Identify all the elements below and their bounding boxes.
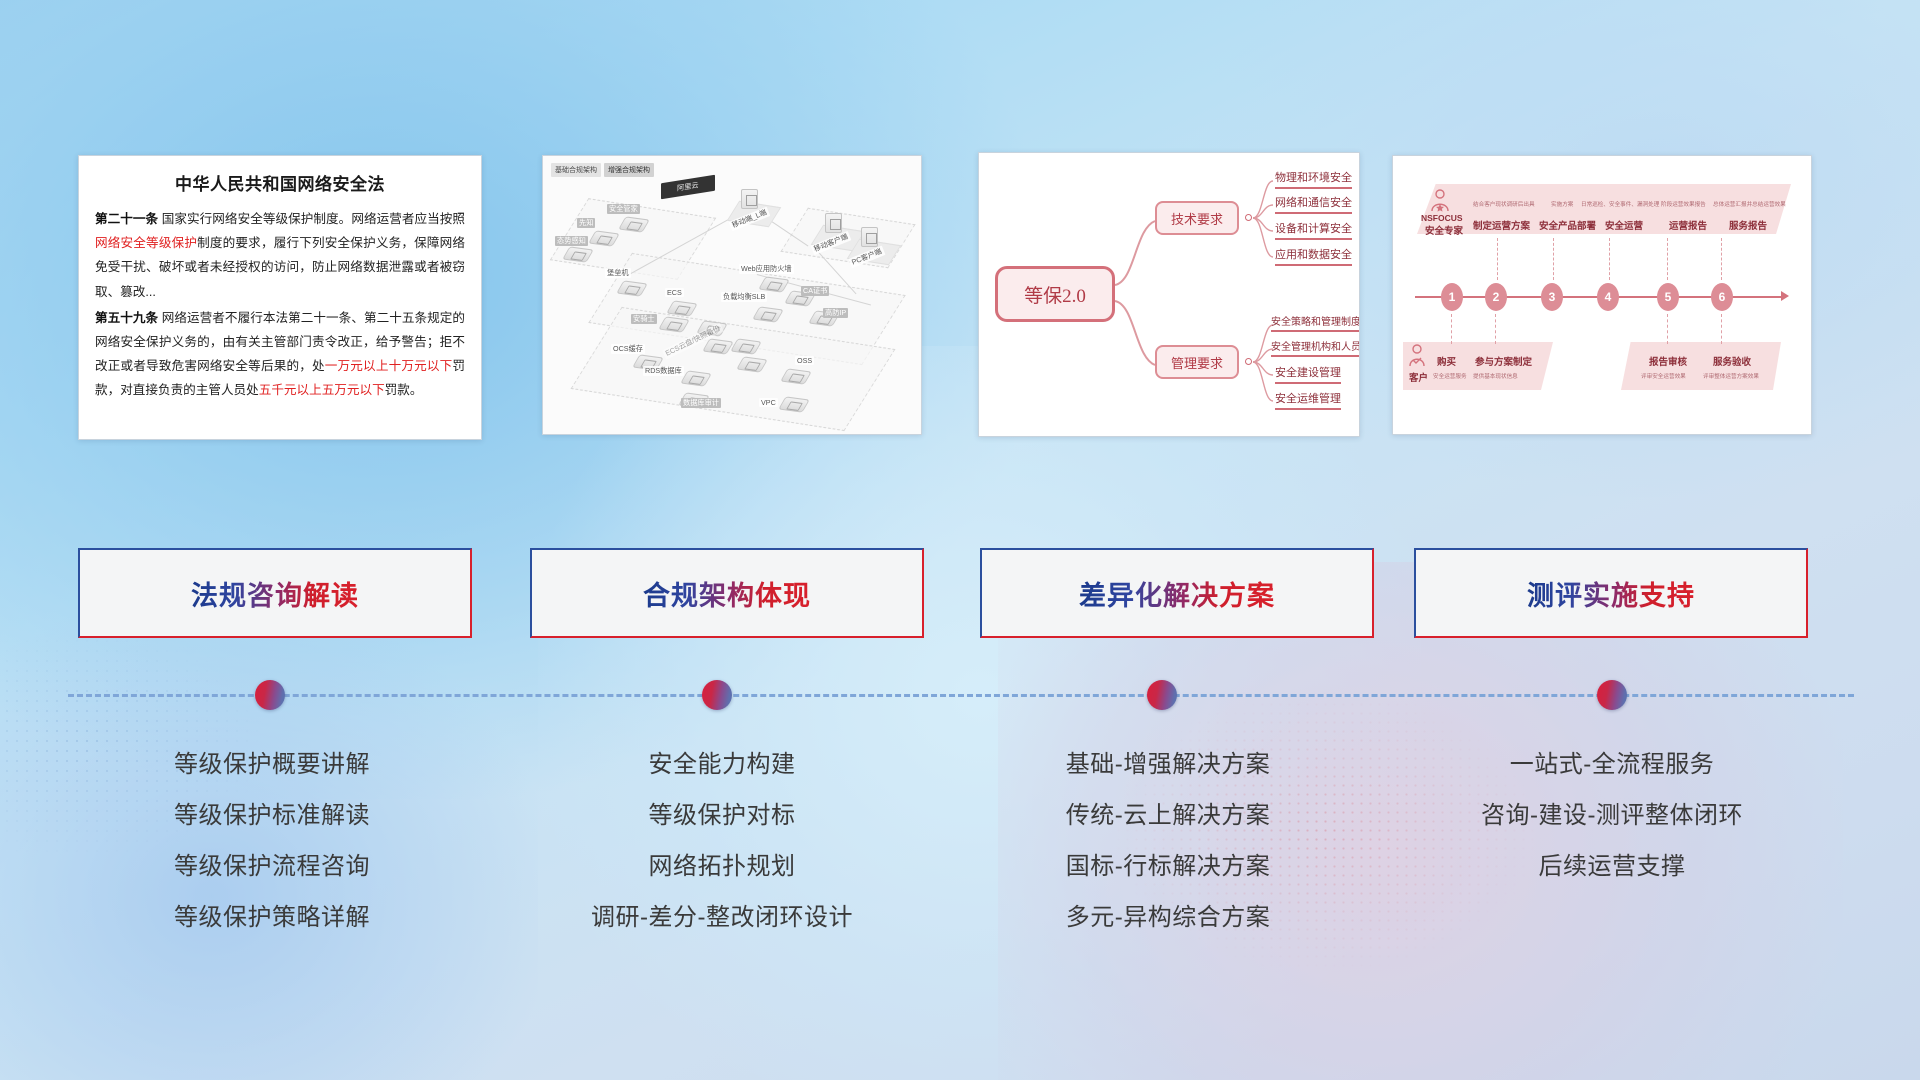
- architecture-node: [733, 336, 759, 353]
- expert-person-icon: [1429, 189, 1451, 213]
- timeline-step-note: 安全运营服务: [1433, 372, 1467, 380]
- timeline-leader-line: [1721, 238, 1722, 280]
- architecture-label-waf: Web应用防火墙: [739, 264, 794, 274]
- section-header-label: 法规咨询解读: [191, 574, 359, 613]
- feature-list-differentiated-solution: 基础-增强解决方案 传统-云上解决方案 国标-行标解决方案 多元-异构综合方案: [968, 740, 1368, 944]
- feature-list-item: 国标-行标解决方案: [968, 842, 1368, 893]
- timeline-marker-dot[interactable]: [255, 680, 285, 710]
- mindmap-branch-technical[interactable]: 技术要求: [1155, 201, 1239, 235]
- architecture-node: [565, 244, 591, 261]
- architecture-label-prophet: 先知: [577, 218, 595, 228]
- mindmap-leaf[interactable]: 安全运维管理: [1275, 390, 1341, 410]
- law-paragraph: 第二十一条 国家实行网络安全等级保护制度。网络运营者应当按照网络安全等级保护制度…: [95, 207, 465, 304]
- timeline-dashed-line: [68, 694, 1854, 697]
- timeline-step-note: 日常巡检、安全事件、漏洞处理: [1581, 200, 1659, 208]
- timeline-axis-arrow-icon: [1781, 291, 1789, 301]
- architecture-tabs[interactable]: 基础合规架构 增强合规架构: [551, 163, 654, 177]
- section-header-assessment-support[interactable]: 测评实施支持: [1414, 548, 1808, 638]
- timeline-leader-line: [1497, 238, 1498, 280]
- timeline-leader-line: [1667, 238, 1668, 280]
- feature-list-regulation-consulting: 等级保护概要讲解 等级保护标准解读 等级保护流程咨询 等级保护策略详解: [72, 740, 472, 944]
- architecture-client-pc: [861, 227, 878, 247]
- law-paragraph: 第五十九条 网络运营者不履行本法第二十一条、第二十五条规定的网络安全保护义务的，…: [95, 306, 465, 403]
- mindmap-leaf[interactable]: 设备和计算安全: [1275, 220, 1352, 240]
- timeline-step-title[interactable]: 安全产品部署: [1539, 218, 1596, 232]
- architecture-label-agent: 安骑士: [631, 314, 657, 324]
- feature-list-item: 后续运营支撑: [1412, 842, 1812, 893]
- law-text-run: 国家实行网络安全等级保护制度。网络运营者应当按照: [158, 212, 465, 226]
- feature-list-compliance-architecture: 安全能力构建 等级保护对标 网络拓扑规划 调研-差分-整改闭环设计: [522, 740, 922, 944]
- timeline-step-note: 评审安全运营效果: [1641, 372, 1686, 380]
- mindmap-diagram: 等保2.0 技术要求 管理要求 物理和环境安全 网络和通信安全 设备和计算安全 …: [979, 153, 1359, 436]
- architecture-node: [669, 298, 695, 315]
- slide-stage: 中华人民共和国网络安全法 第二十一条 国家实行网络安全等级保护制度。网络运营者应…: [0, 0, 1920, 1080]
- mindmap-leaf[interactable]: 安全策略和管理制度: [1271, 313, 1360, 332]
- timeline-step-title[interactable]: 服务验收: [1713, 354, 1751, 368]
- timeline-step-note: 结合客户现状调研后出具: [1473, 200, 1535, 208]
- timeline-node[interactable]: 6: [1711, 283, 1733, 311]
- section-header-label: 合规架构体现: [643, 574, 811, 613]
- mindmap-leaf[interactable]: 安全建设管理: [1275, 364, 1341, 384]
- timeline-marker-dot[interactable]: [1147, 680, 1177, 710]
- feature-list-item: 基础-增强解决方案: [968, 740, 1368, 791]
- architecture-label-vpc: VPC: [759, 398, 778, 407]
- timeline-leader-line: [1553, 238, 1554, 280]
- timeline-step-title[interactable]: 服务报告: [1729, 218, 1767, 232]
- card-cloud-architecture[interactable]: 基础合规架构 增强合规架构 阿里云 态势感知 先知 安全管家 堡垒机: [542, 155, 922, 435]
- law-article-label: 第二十一条: [95, 212, 158, 226]
- architecture-label-oss: OSS: [795, 356, 814, 365]
- architecture-node: [591, 228, 617, 245]
- timeline-step-title[interactable]: 报告审核: [1649, 354, 1687, 368]
- architecture-node: [621, 214, 647, 231]
- architecture-label-db-audit: 数据库审计: [681, 398, 721, 408]
- card-service-timeline[interactable]: NSFOCUS 安全专家 结合客户现状调研后出具 制定运营方案 实施方案 安全产…: [1392, 155, 1812, 435]
- feature-list-item: 网络拓扑规划: [522, 842, 922, 893]
- timeline-leader-line: [1609, 238, 1610, 280]
- architecture-node: [781, 394, 807, 411]
- timeline-node[interactable]: 5: [1657, 283, 1679, 311]
- feature-list-assessment-support: 一站式-全流程服务 咨询-建设-测评整体闭环 后续运营支撑: [1412, 740, 1812, 893]
- feature-list-item: 等级保护对标: [522, 791, 922, 842]
- mindmap-leaf[interactable]: 网络和通信安全: [1275, 194, 1352, 214]
- timeline-step-title[interactable]: 参与方案制定: [1475, 354, 1532, 368]
- architecture-tab-basic[interactable]: 基础合规架构: [551, 163, 601, 177]
- feature-list-item: 一站式-全流程服务: [1412, 740, 1812, 791]
- service-timeline-diagram: NSFOCUS 安全专家 结合客户现状调研后出具 制定运营方案 实施方案 安全产…: [1393, 156, 1811, 434]
- architecture-label-security-butler: 安全管家: [607, 204, 640, 214]
- timeline-step-note: 提供基本现状信息: [1473, 372, 1518, 380]
- law-title: 中华人民共和国网络安全法: [95, 170, 465, 195]
- architecture-node: [783, 366, 809, 383]
- architecture-label-anti-ddos-ip: 高防IP: [823, 308, 848, 318]
- architecture-node: [739, 354, 765, 371]
- section-header-label: 差异化解决方案: [1079, 574, 1275, 613]
- timeline-step-note: 阶段运营效果报告: [1661, 200, 1706, 208]
- architecture-node: [661, 314, 687, 331]
- card-mindmap[interactable]: 等保2.0 技术要求 管理要求 物理和环境安全 网络和通信安全 设备和计算安全 …: [978, 152, 1360, 437]
- architecture-node: [755, 304, 781, 321]
- architecture-node: [683, 368, 709, 385]
- mindmap-collapse-dot[interactable]: [1245, 214, 1252, 221]
- architecture-diagram: 基础合规架构 增强合规架构 阿里云 态势感知 先知 安全管家 堡垒机: [543, 156, 921, 434]
- timeline-leader-line: [1495, 314, 1496, 344]
- feature-list-item: 等级保护策略详解: [72, 893, 472, 944]
- timeline-leader-line: [1721, 314, 1722, 344]
- timeline-step-note: 评审整体运营方案效果: [1703, 372, 1759, 380]
- law-body: 中华人民共和国网络安全法 第二十一条 国家实行网络安全等级保护制度。网络运营者应…: [79, 156, 481, 412]
- feature-list-item: 多元-异构综合方案: [968, 893, 1368, 944]
- architecture-node: [619, 278, 645, 295]
- architecture-cloud-label: 阿里云: [661, 175, 715, 199]
- architecture-label-ecs: ECS: [665, 288, 684, 297]
- section-header-regulation-consulting[interactable]: 法规咨询解读: [78, 548, 472, 638]
- timeline-step-title[interactable]: 制定运营方案: [1473, 218, 1530, 232]
- feature-list-item: 咨询-建设-测评整体闭环: [1412, 791, 1812, 842]
- customer-role-label: 客户: [1409, 370, 1428, 384]
- feature-list-item: 等级保护流程咨询: [72, 842, 472, 893]
- timeline-marker-dot[interactable]: [702, 680, 732, 710]
- architecture-label-bastion-host: 堡垒机: [605, 268, 631, 278]
- timeline-step-title[interactable]: 购买: [1437, 354, 1456, 368]
- mindmap-root-node[interactable]: 等保2.0: [995, 266, 1115, 322]
- architecture-client-mobile-top: [741, 189, 758, 209]
- expert-brand-label: NSFOCUS: [1421, 213, 1463, 223]
- architecture-client-mobile: [825, 213, 842, 233]
- mindmap-leaf[interactable]: 安全管理机构和人员: [1271, 338, 1360, 357]
- architecture-tab-enhanced[interactable]: 增强合规架构: [604, 163, 654, 177]
- timeline-step-note: 实施方案: [1551, 200, 1573, 208]
- timeline-node[interactable]: 1: [1441, 283, 1463, 311]
- timeline-band-bottom-right: [1621, 342, 1781, 390]
- law-highlight-run: 网络安全等级保护: [95, 236, 197, 250]
- timeline-node[interactable]: 3: [1541, 283, 1563, 311]
- law-highlight-run: 五千元以上五万元以下: [259, 383, 385, 397]
- timeline-step-title[interactable]: 运营报告: [1669, 218, 1707, 232]
- timeline-step-note: 总体运营汇报并总结运营效果: [1713, 200, 1786, 208]
- timeline-leader-line: [1667, 314, 1668, 344]
- architecture-label-rds: RDS数据库: [643, 366, 684, 376]
- card-law-text[interactable]: 中华人民共和国网络安全法 第二十一条 国家实行网络安全等级保护制度。网络运营者应…: [78, 155, 482, 440]
- architecture-label-ocs-cache: OCS缓存: [611, 344, 645, 354]
- architecture-label-slb: 负载均衡SLB: [721, 292, 767, 302]
- section-header-compliance-architecture[interactable]: 合规架构体现: [530, 548, 924, 638]
- architecture-node: [761, 274, 787, 291]
- timeline-marker-dot[interactable]: [1597, 680, 1627, 710]
- section-header-label: 测评实施支持: [1527, 574, 1695, 613]
- mindmap-leaf[interactable]: 应用和数据安全: [1275, 246, 1352, 266]
- mindmap-branch-management[interactable]: 管理要求: [1155, 345, 1239, 379]
- mindmap-leaf[interactable]: 物理和环境安全: [1275, 169, 1352, 189]
- feature-list-item: 等级保护概要讲解: [72, 740, 472, 791]
- timeline-leader-line: [1451, 314, 1452, 344]
- timeline-node[interactable]: 4: [1597, 283, 1619, 311]
- mindmap-collapse-dot[interactable]: [1245, 358, 1252, 365]
- law-article-label: 第五十九条: [95, 311, 158, 325]
- expert-role-label: 安全专家: [1425, 223, 1463, 237]
- architecture-label-situational-awareness: 态势感知: [555, 236, 588, 246]
- timeline-step-title[interactable]: 安全运营: [1605, 218, 1643, 232]
- customer-person-icon: [1407, 344, 1427, 368]
- timeline-node[interactable]: 2: [1485, 283, 1507, 311]
- law-text-run: 罚款。: [385, 383, 423, 397]
- feature-list-item: 调研-差分-整改闭环设计: [522, 893, 922, 944]
- feature-list-item: 安全能力构建: [522, 740, 922, 791]
- section-header-differentiated-solution[interactable]: 差异化解决方案: [980, 548, 1374, 638]
- feature-list-item: 等级保护标准解读: [72, 791, 472, 842]
- law-highlight-run: 一万元以上十万元以下: [325, 359, 453, 373]
- architecture-label-ca-cert: CA证书: [801, 286, 829, 296]
- feature-list-item: 传统-云上解决方案: [968, 791, 1368, 842]
